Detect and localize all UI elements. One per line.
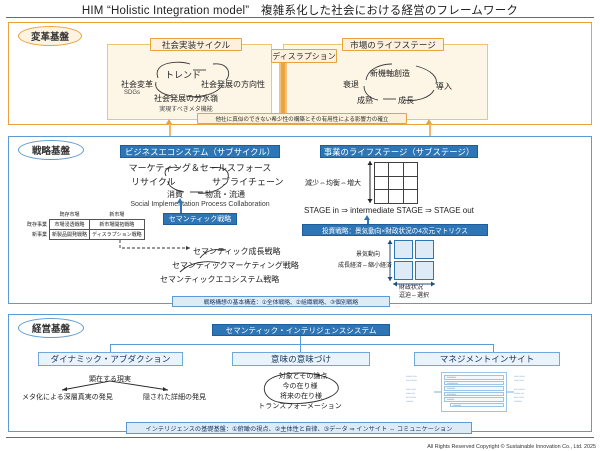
market-lifestage-label: 市場のライフステージ: [342, 38, 444, 51]
semantic-item-ecosystem: セマンティックエコシステム戦略: [160, 274, 279, 285]
management-connector-horizontal: [110, 344, 494, 345]
semantic-strategy-label: セマンティック戦略: [163, 213, 237, 225]
ansoff-corner: [25, 210, 50, 220]
semantic-item-marketing: セマンティックマーケティング戦略: [172, 260, 299, 271]
list-item: ▪▪▪▪▪▪▪▪▪: [450, 403, 504, 408]
market-node-innovation: 新機軸創造: [370, 68, 410, 79]
grid-cell: [415, 240, 434, 259]
ansoff-row-new: 新事業: [25, 230, 50, 240]
meaning-line-4: トランスフォーメーション: [258, 401, 341, 411]
investment-strategy-label: 投資戦略：景気動向×財政状況の4次元マトリクス: [302, 224, 488, 236]
grid-cell: [404, 177, 417, 190]
meaning-line-3: 将来の在り様: [280, 391, 322, 401]
panel-badge-strategy: 戦略基盤: [18, 140, 84, 160]
list-item: ▪▪▪▪▪▪▪▪: [444, 397, 504, 402]
management-branch-right: [493, 344, 494, 352]
ansoff-cell-1-1: ディスラプション戦略: [90, 230, 145, 240]
panel-badge-management: 経営基盤: [18, 318, 84, 338]
list-item: ▪▪▪▪▪▪▪▪▪▪: [444, 392, 504, 397]
insight-micro-left: ▪▪▪▪▪▪▪ ▪▪▪▪ ▪▪▪▪ ▪▪▪▪▪▪▪ ▪▪▪▪▪ ▪▪▪▪▪ ▪▪…: [406, 375, 417, 404]
grid-cell: [375, 190, 388, 203]
list-item: ▪▪▪▪▪▪▪▪▪▪▪▪: [444, 381, 504, 386]
transformation-banner: 他社に真似のできない希少性の構築とその有用性による影響力の確立: [197, 113, 407, 124]
market-node-maturity: 成熟: [357, 95, 373, 106]
ansoff-row-existing: 既存事業: [25, 220, 50, 230]
business-lifestage-axis-label: 減少⇔均衡⇔増大: [305, 178, 361, 188]
management-banner: インテリジェンスの基礎基盤：①俯瞰の視点、②主体性と自律、③データ ⇒ インサイ…: [126, 422, 472, 434]
abduction-right-text: 隠された詳細の発見: [143, 392, 206, 402]
copyright-footer: All Rights Reserved Copyright © Sustaina…: [427, 444, 596, 450]
ecosystem-node-logistics: 物流・流通: [205, 189, 245, 200]
ansoff-matrix: 既存市場 新市場 既存事業 市場浸透戦略 新市場開拓戦略 新事業 新製品開発戦略…: [25, 210, 145, 240]
abduction-top-text: 顕在する現実: [89, 374, 131, 384]
social-cycle-node-reform: 社会変革: [121, 79, 153, 90]
management-insight-panel: ▪▪▪▪▪▪▪▪▪▪ ▪▪▪▪▪▪▪▪▪▪▪▪ ▪▪▪▪▪▪▪▪▪ ▪▪▪▪▪▪…: [441, 372, 507, 412]
panel-badge-transformation: 変革基盤: [18, 26, 82, 46]
social-cycle-node-watershed: 社会発展の分水嶺: [154, 93, 218, 104]
grid-cell: [375, 163, 388, 176]
ansoff-cell-1-0: 新製品開発戦略: [50, 230, 90, 240]
business-ecosystem-label: ビジネスエコシステム（サブサイクル）: [120, 145, 280, 158]
market-node-introduction: 導入: [436, 81, 452, 92]
management-branch-mid: [300, 344, 301, 352]
social-cycle-node-trend: トレンド: [165, 68, 201, 81]
list-item: ▪▪▪▪▪▪▪▪▪: [444, 386, 504, 391]
insight-micro-right: ▪▪▪▪▪ ▪▪▪▪▪▪ ▪▪▪▪▪▪ ▪▪▪▪ ▪▪▪▪ ▪▪▪▪▪▪▪ ▪▪…: [514, 375, 525, 404]
grid-cell: [415, 261, 434, 280]
grid-cell: [389, 163, 402, 176]
diagram-root: HIM “Holistic Integration model” 複雑系化した社…: [0, 0, 600, 451]
grid-cell: [389, 190, 402, 203]
ecosystem-caption: Social Implementation Process Collaborat…: [130, 201, 269, 208]
grid-cell: [394, 240, 413, 259]
arrow-head-right-1: [426, 119, 432, 124]
semantic-strategy-arrow-shaft: [180, 203, 182, 213]
social-cycle-node-direction: 社会発展の方向性: [201, 79, 265, 90]
social-cycle-sub-sdgs: SDGs: [124, 90, 140, 96]
business-lifestage-grid: [374, 162, 418, 204]
investment-matrix: [394, 240, 434, 280]
management-col-label-meaning: 意味の意味づけ: [232, 352, 370, 366]
ansoff-cell-0-1: 新市場開拓戦略: [90, 220, 145, 230]
management-col-label-abduction: ダイナミック・アブダクション: [38, 352, 183, 366]
investment-arrow-head: [364, 215, 370, 220]
ecosystem-node-marketing: マーケティング＆セールスフォース: [129, 161, 272, 174]
investment-y-axis-range: 成長経済⇔縮小経済: [338, 260, 392, 269]
market-node-decline: 衰退: [343, 79, 359, 90]
list-item: ▪▪▪▪▪▪▪▪▪▪: [444, 375, 504, 380]
footer-rule: [6, 437, 594, 438]
semantic-item-growth: セマンティック成長戦略: [193, 246, 281, 257]
disruption-flow-bar-core: [281, 63, 285, 119]
market-node-growth: 成長: [398, 95, 414, 106]
page-title: HIM “Holistic Integration model” 複雑系化した社…: [0, 2, 600, 18]
semantic-strategy-arrow-head: [177, 198, 183, 203]
title-rule: [6, 17, 594, 18]
abduction-left-text: メタ化による深層真実の発見: [22, 392, 113, 402]
investment-x-axis-range: 逗迫⇔選択: [399, 290, 429, 299]
management-branch-left: [110, 344, 111, 352]
arrow-head-left-1: [166, 119, 172, 124]
table-row: 新事業 新製品開発戦略 ディスラプション戦略: [25, 230, 144, 240]
management-col-label-insight: マネジメントインサイト: [414, 352, 560, 366]
management-connector-stem: [300, 336, 301, 344]
meaning-line-2: 今の在り様: [283, 381, 318, 391]
grid-cell: [389, 177, 402, 190]
strategy-banner: 戦略構想の基本構造：①全体戦略、②組織戦略、③個別戦略: [172, 296, 390, 307]
semantic-intelligence-system-label: セマンティック・インテリジェンスシステム: [212, 324, 390, 336]
business-lifestage-label: 事業のライフステージ（サブステージ）: [320, 145, 478, 158]
ansoff-col-existing: 既存市場: [50, 210, 90, 220]
ecosystem-node-supplychain: サブライチェーン: [212, 175, 284, 188]
social-cycle-label: 社会実装サイクル: [150, 38, 242, 51]
grid-cell: [375, 177, 388, 190]
grid-cell: [394, 261, 413, 280]
ansoff-cell-0-0: 市場浸透戦略: [50, 220, 90, 230]
ansoff-header-row: 既存市場 新市場: [25, 210, 144, 220]
meaning-line-1: 対象とその論点: [279, 371, 328, 381]
investment-y-axis-title: 景気動向: [356, 249, 380, 258]
social-cycle-sub-meta: 実現すべきメタ機能: [159, 104, 213, 113]
ecosystem-node-recycle: リサイクル: [131, 175, 176, 188]
business-lifestage-flow: STAGE in ⇒ intermediate STAGE ⇒ STAGE ou…: [304, 206, 474, 215]
grid-cell: [404, 163, 417, 176]
disruption-label: ディスラプション: [271, 49, 337, 63]
grid-cell: [404, 190, 417, 203]
ansoff-col-new: 新市場: [90, 210, 145, 220]
table-row: 既存事業 市場浸透戦略 新市場開拓戦略: [25, 220, 144, 230]
